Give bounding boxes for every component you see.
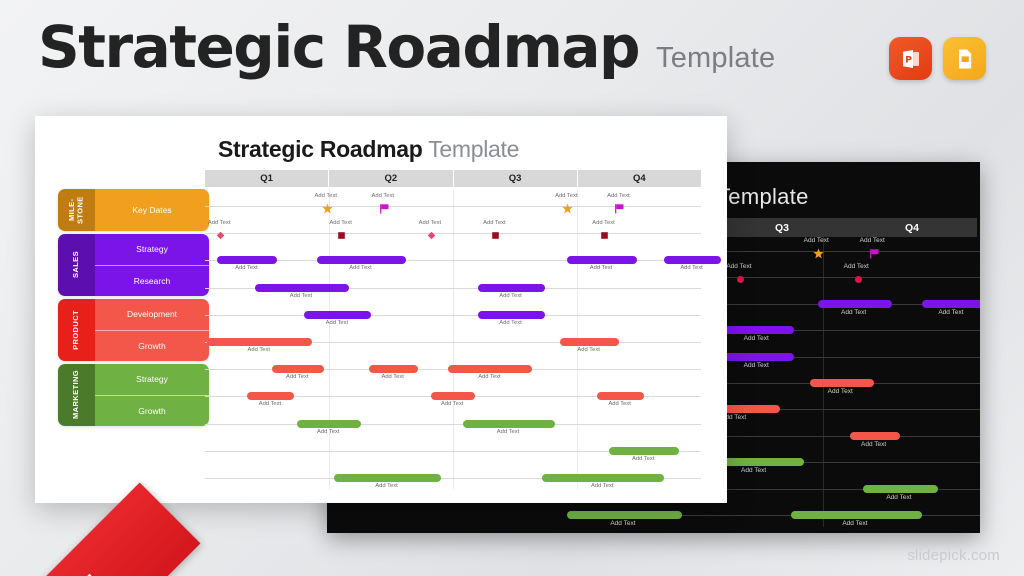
gantt-bar[interactable] [448, 365, 532, 373]
dark-gantt-bar-label[interactable]: Add Text [861, 441, 886, 448]
subtrack-key-dates[interactable]: Key Dates [95, 189, 209, 231]
milestone-label[interactable]: Add Text [372, 193, 394, 199]
quarter-header-q2: Q2 [329, 170, 453, 187]
slide-title: Strategic Roadmap Template [218, 136, 519, 163]
category-subtracks: Key Dates [95, 189, 209, 231]
gantt-bar-label[interactable]: Add Text [259, 401, 281, 407]
dark-gantt-bar[interactable] [863, 485, 938, 493]
dark-gantt-bar[interactable] [850, 432, 901, 440]
dark-gantt-bar-label[interactable]: Add Text [841, 309, 866, 316]
gantt-bar-label[interactable]: Add Text [590, 265, 612, 271]
gantt-bar-label[interactable]: Add Text [499, 293, 521, 299]
page-title: Strategic Roadmap [38, 18, 639, 76]
dark-quarter-q4: Q4 [847, 218, 977, 237]
gantt-row-line [205, 206, 701, 207]
gantt-bar[interactable] [560, 338, 620, 346]
subtrack-growth[interactable]: Growth [95, 330, 209, 362]
dark-slide-title: Template [717, 184, 809, 210]
gantt-bar-label[interactable]: Add Text [441, 401, 463, 407]
milestone-label[interactable]: Add Text [483, 220, 505, 226]
gantt-bar[interactable] [317, 256, 406, 264]
gantt-bar[interactable] [542, 474, 664, 482]
gantt-bar[interactable] [431, 392, 476, 400]
free-ribbon-label: FREE [10, 566, 117, 576]
gantt-bar[interactable] [463, 420, 555, 428]
gantt-bar[interactable] [297, 420, 361, 428]
format-icons: P [889, 37, 986, 80]
gantt-bar-label[interactable]: Add Text [381, 374, 403, 380]
gantt-bar-label[interactable]: Add Text [497, 429, 519, 435]
free-ribbon-wrap: FREE [0, 361, 215, 576]
square-milestone-icon[interactable] [336, 228, 347, 246]
gantt-bar[interactable] [304, 311, 371, 319]
gantt-bar[interactable] [664, 256, 721, 264]
gantt-bar-label[interactable]: Add Text [577, 347, 599, 353]
powerpoint-icon[interactable]: P [889, 37, 932, 80]
dark-gantt-bar-label[interactable]: Add Text [938, 309, 963, 316]
gantt-bar-label[interactable]: Add Text [478, 374, 500, 380]
category-group-milestone[interactable]: MILE- STONEKey Dates [58, 189, 209, 231]
category-group-sales[interactable]: SALESStrategyResearch [58, 234, 209, 296]
flag-milestone-icon[interactable] [379, 201, 390, 219]
dark-gantt-bar[interactable] [791, 511, 922, 519]
gantt-bar-label[interactable]: Add Text [349, 265, 371, 271]
gantt-bar[interactable] [255, 284, 349, 292]
google-slides-icon[interactable] [943, 37, 986, 80]
gantt-bar[interactable] [478, 311, 545, 319]
gantt-bar[interactable] [207, 338, 311, 346]
milestone-label[interactable]: Add Text [329, 220, 351, 226]
subtrack-development[interactable]: Development [95, 299, 209, 330]
square-milestone-icon[interactable] [599, 228, 610, 246]
gantt-bar-label[interactable]: Add Text [317, 429, 339, 435]
page-header: Strategic Roadmap Template [38, 18, 775, 76]
gantt-bar-label[interactable]: Add Text [591, 483, 613, 489]
dark-quarter-header: Q3 Q4 [717, 218, 977, 237]
quarter-header-row: Q1 Q2 Q3 Q4 [205, 170, 701, 187]
category-name: SALES [58, 234, 95, 296]
gantt-bar-label[interactable]: Add Text [290, 293, 312, 299]
dark-star-milestone-icon[interactable] [813, 246, 824, 264]
gantt-bar-label[interactable]: Add Text [499, 320, 521, 326]
slide-title-main: Strategic Roadmap [218, 136, 423, 162]
watermark: slidepick.com [907, 547, 1000, 564]
flag-milestone-icon[interactable] [614, 201, 625, 219]
free-ribbon: FREE [0, 483, 200, 576]
dark-flag-milestone-icon[interactable] [869, 246, 880, 264]
category-name: PRODUCT [58, 299, 95, 361]
dark-square-milestone-icon[interactable] [735, 272, 746, 290]
milestone-label[interactable]: Add Text [607, 193, 629, 199]
gantt-bar-label[interactable]: Add Text [235, 265, 257, 271]
gantt-bar[interactable] [334, 474, 441, 482]
gantt-bar[interactable] [369, 365, 419, 373]
category-subtracks: DevelopmentGrowth [95, 299, 209, 361]
gantt-bar-label[interactable]: Add Text [375, 483, 397, 489]
dark-gantt-bar[interactable] [722, 353, 794, 361]
milestone-label[interactable]: Add Text [419, 220, 441, 226]
category-name-label: MILE- STONE [68, 189, 85, 231]
dark-gantt-bar[interactable] [567, 511, 682, 519]
category-subtracks: StrategyResearch [95, 234, 209, 296]
gantt-row-line [205, 315, 701, 316]
milestone-label[interactable]: Add Text [592, 220, 614, 226]
star-milestone-icon[interactable] [322, 201, 333, 219]
star-milestone-icon[interactable] [562, 201, 573, 219]
dark-gantt-bar-label[interactable]: Add Text [744, 335, 769, 342]
category-group-product[interactable]: PRODUCTDevelopmentGrowth [58, 299, 209, 361]
page-subtitle: Template [656, 42, 775, 75]
dark-quarter-q3: Q3 [717, 218, 847, 237]
subtrack-strategy[interactable]: Strategy [95, 234, 209, 265]
gantt-bar[interactable] [478, 284, 545, 292]
subtrack-research[interactable]: Research [95, 265, 209, 297]
quarter-header-q4: Q4 [578, 170, 701, 187]
gantt-plot: Add TextAdd TextAdd TextAdd TextAdd Text… [205, 189, 701, 489]
category-name-label: PRODUCT [72, 310, 81, 350]
page-root: Strategic Roadmap Template P Template Q3… [0, 0, 1024, 576]
diamond-milestone-icon[interactable] [426, 228, 437, 246]
quarter-header-q1: Q1 [205, 170, 329, 187]
svg-text:P: P [905, 55, 912, 65]
gantt-bar-label[interactable]: Add Text [286, 374, 308, 380]
gantt-bar[interactable] [272, 365, 324, 373]
gantt-bar[interactable] [217, 256, 277, 264]
dark-gantt-bar-label[interactable]: Add Text [610, 520, 635, 527]
dark-milestone-label[interactable]: Add Text [726, 263, 751, 270]
diamond-milestone-icon[interactable] [215, 228, 226, 246]
dark-gantt-bar-label[interactable]: Add Text [741, 467, 766, 474]
milestone-label[interactable]: Add Text [315, 193, 337, 199]
milestone-label[interactable]: Add Text [555, 193, 577, 199]
dark-milestone-label[interactable]: Add Text [804, 237, 829, 244]
gantt-bar[interactable] [567, 256, 636, 264]
dark-gantt-bar[interactable] [722, 326, 794, 334]
dark-gantt-bar-label[interactable]: Add Text [886, 494, 911, 501]
gantt-bar[interactable] [247, 392, 294, 400]
gantt-bar[interactable] [597, 392, 644, 400]
dark-gantt-bar-label[interactable]: Add Text [744, 362, 769, 369]
gantt-bar-label[interactable]: Add Text [608, 401, 630, 407]
square-milestone-icon[interactable] [490, 228, 501, 246]
category-name-label: SALES [72, 251, 81, 278]
milestone-label[interactable]: Add Text [208, 220, 230, 226]
dark-gantt-bar-label[interactable]: Add Text [842, 520, 867, 527]
category-name: MILE- STONE [58, 189, 95, 231]
dark-milestone-label[interactable]: Add Text [860, 237, 885, 244]
gantt-row-line [205, 233, 701, 234]
dark-gantt-bar[interactable] [810, 379, 874, 387]
dark-gantt-bar[interactable] [922, 300, 980, 308]
dark-gantt-bar-label[interactable]: Add Text [828, 388, 853, 395]
gantt-bar-label[interactable]: Add Text [326, 320, 348, 326]
gantt-bar[interactable] [609, 447, 678, 455]
dark-gantt-bar[interactable] [818, 300, 893, 308]
dark-milestone-label[interactable]: Add Text [844, 263, 869, 270]
gantt-bar-label[interactable]: Add Text [248, 347, 270, 353]
gantt-row-line [205, 424, 701, 425]
quarter-header-q3: Q3 [454, 170, 578, 187]
dark-square-milestone-icon[interactable] [853, 272, 864, 290]
slide-title-sub: Template [428, 136, 519, 162]
gantt-bar-label[interactable]: Add Text [680, 265, 702, 271]
gantt-bar-label[interactable]: Add Text [632, 456, 654, 462]
